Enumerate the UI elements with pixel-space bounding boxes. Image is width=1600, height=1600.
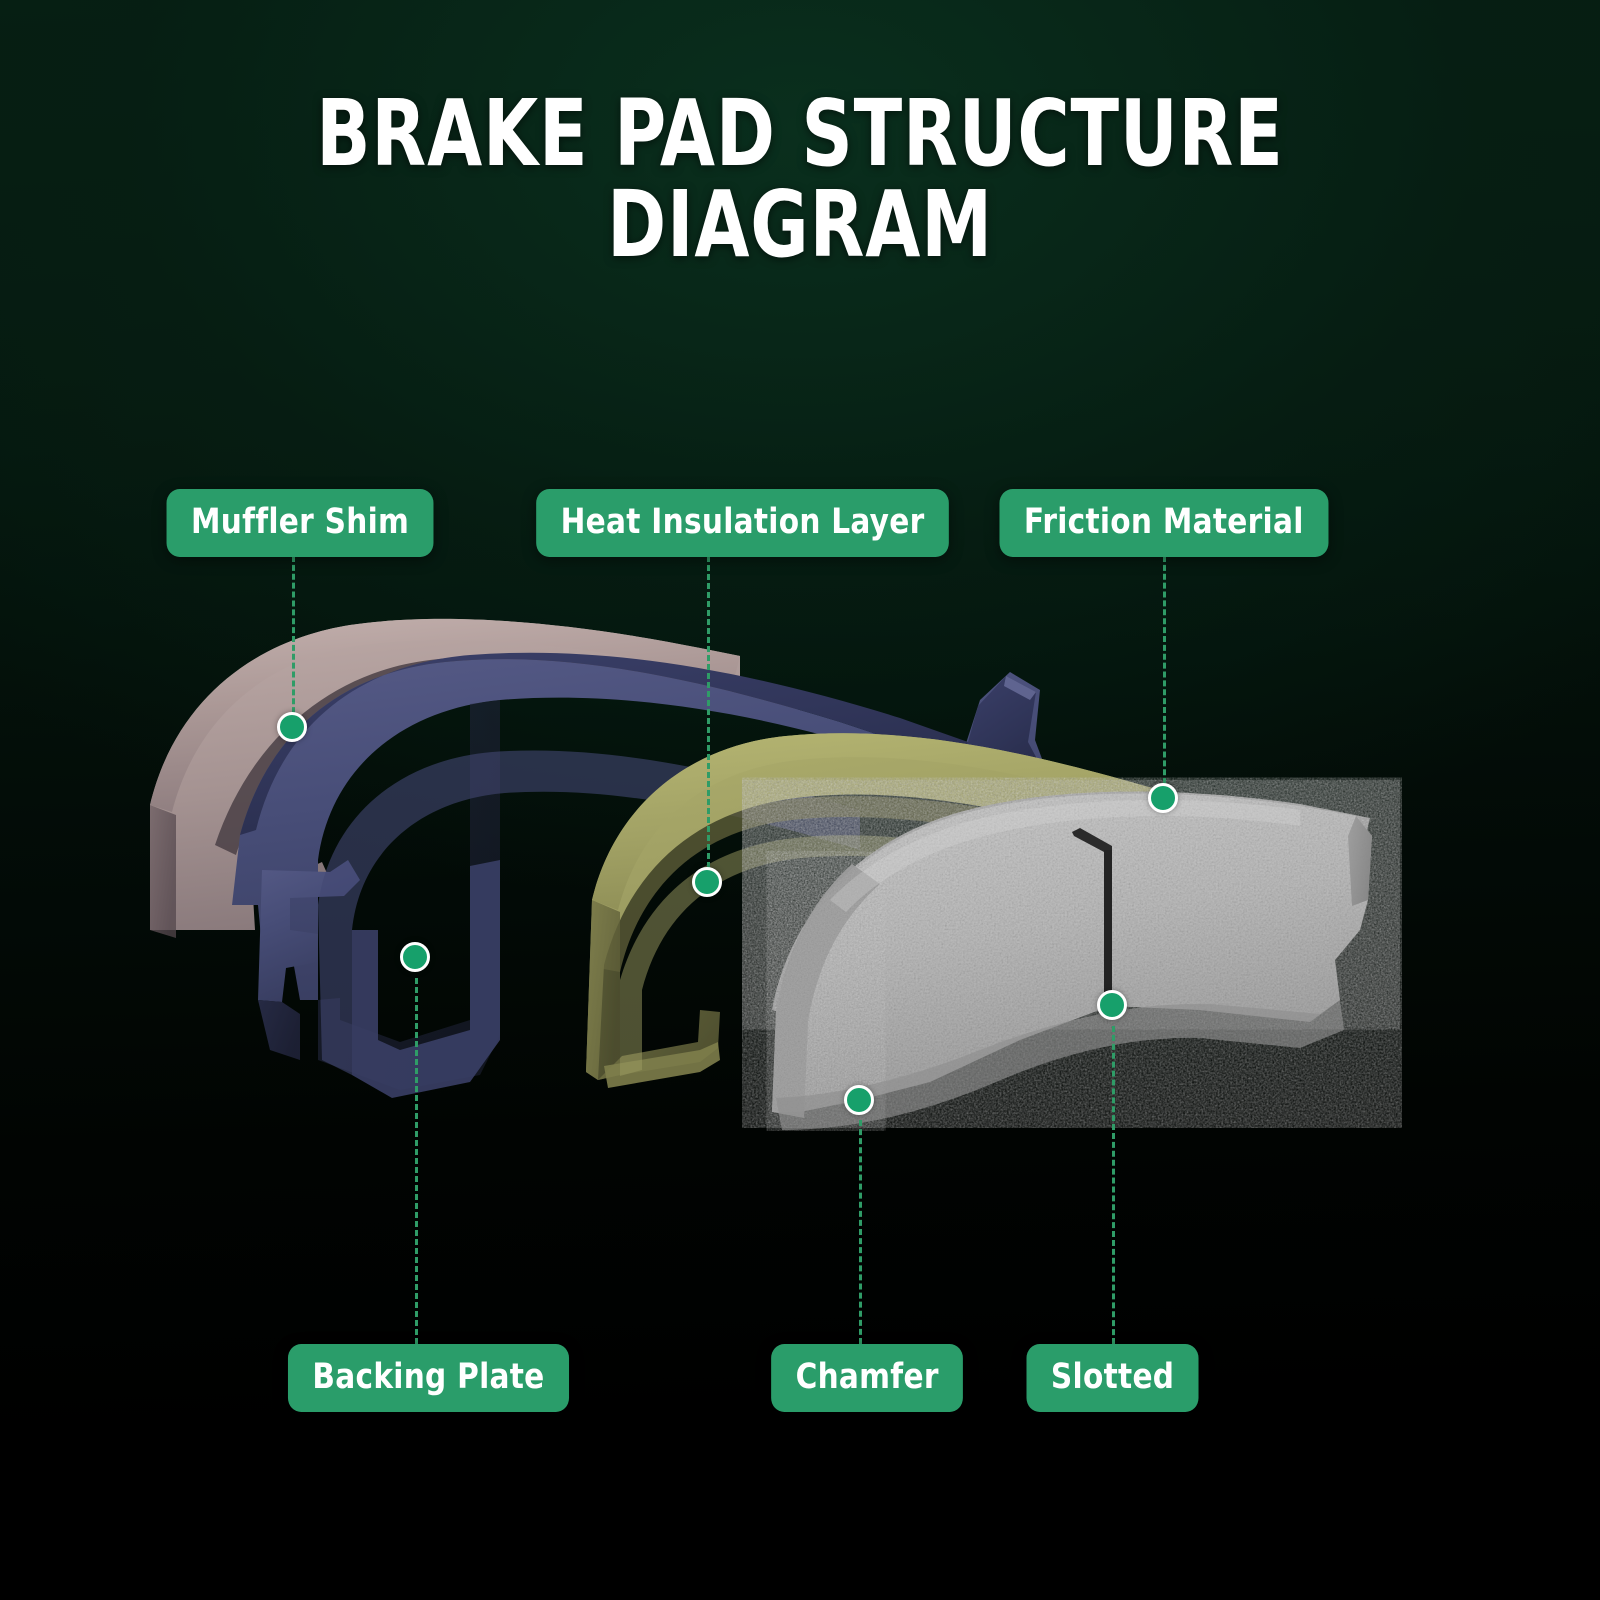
lead-line-heat-insulation — [707, 556, 710, 877]
lead-line-friction-material — [1163, 556, 1166, 793]
marker-dot-slotted[interactable] — [1097, 990, 1127, 1020]
lead-line-muffler-shim — [292, 556, 295, 722]
friction-material-layer — [772, 791, 1372, 1130]
marker-dot-muffler-shim[interactable] — [277, 712, 307, 742]
label-badge-slotted[interactable]: Slotted — [1026, 1344, 1198, 1412]
muffler-shim-layer — [150, 619, 740, 948]
diagram-canvas: BRAKE PAD STRUCTURE DIAGRAM — [0, 0, 1600, 1600]
label-badge-heat-insulation[interactable]: Heat Insulation Layer — [536, 489, 949, 557]
label-badge-chamfer[interactable]: Chamfer — [771, 1344, 963, 1412]
lead-line-backing-plate — [415, 978, 418, 1344]
marker-dot-friction-material[interactable] — [1148, 783, 1178, 813]
page-title: BRAKE PAD STRUCTURE DIAGRAM — [112, 88, 1488, 270]
marker-dot-chamfer[interactable] — [844, 1085, 874, 1115]
backing-plate-layer — [215, 653, 1048, 1098]
label-badge-muffler-shim[interactable]: Muffler Shim — [167, 489, 434, 557]
heat-insulation-layer — [586, 733, 1160, 1088]
marker-dot-backing-plate[interactable] — [400, 942, 430, 972]
label-badge-friction-material[interactable]: Friction Material — [999, 489, 1328, 557]
marker-dot-heat-insulation[interactable] — [692, 867, 722, 897]
lead-line-slotted — [1112, 1026, 1115, 1344]
lead-line-chamfer — [859, 1120, 862, 1344]
label-badge-backing-plate[interactable]: Backing Plate — [288, 1344, 569, 1412]
